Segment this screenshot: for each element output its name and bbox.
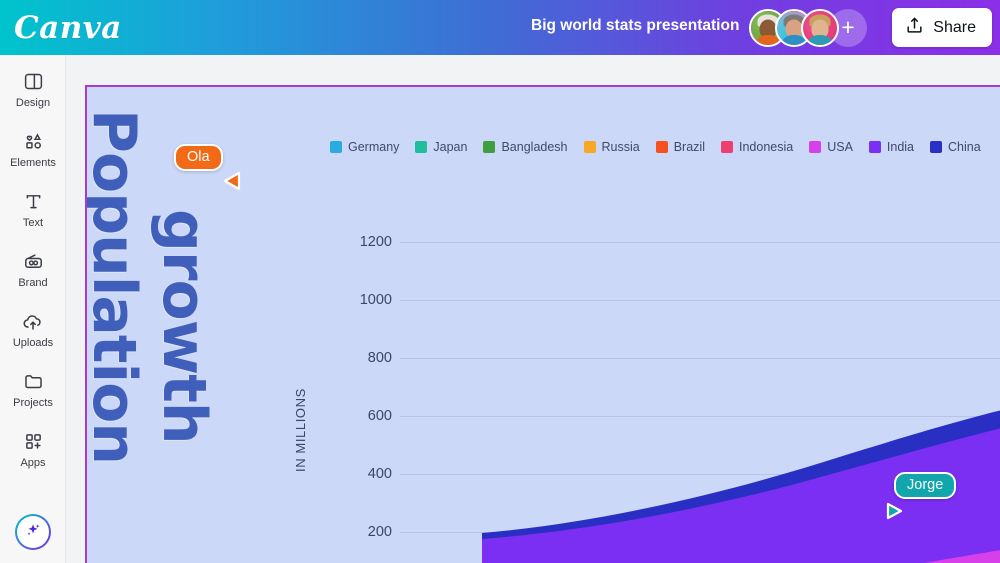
y-axis-title: IN MILLIONS <box>293 388 308 472</box>
y-tick-label: 1200 <box>322 234 392 250</box>
legend-label: Germany <box>348 140 399 154</box>
canva-logo[interactable]: Canva <box>14 10 122 46</box>
sidebar-item-label: Brand <box>18 278 47 289</box>
magic-ai-button[interactable] <box>15 514 51 550</box>
text-t-icon <box>23 190 44 214</box>
cursor-pointer-jorge <box>884 499 908 528</box>
chart-legend: Germany Japan Bangladesh Russia Brazil <box>330 140 992 154</box>
slide-title-line-1[interactable]: Population <box>85 109 149 464</box>
cursor-pointer-ola <box>218 169 242 198</box>
legend-label: Bangladesh <box>501 140 567 154</box>
legend-label: Brazil <box>674 140 705 154</box>
top-bar: Canva Big world stats presentation <box>0 0 1000 55</box>
sidebar-item-label: Text <box>23 218 43 229</box>
cloud-upload-icon <box>22 310 44 334</box>
shapes-icon <box>23 130 44 154</box>
sidebar-item-elements[interactable]: Elements <box>0 119 66 179</box>
legend-item[interactable]: India <box>869 140 914 154</box>
sidebar-item-label: Uploads <box>13 338 53 349</box>
legend-swatch-germany <box>330 141 342 153</box>
apps-grid-plus-icon <box>23 430 44 454</box>
document-title[interactable]: Big world stats presentation <box>531 17 739 35</box>
sidebar-item-brand[interactable]: Brand <box>0 239 66 299</box>
legend-item[interactable]: Japan <box>415 140 467 154</box>
canva-editor-window: Canva Big world stats presentation <box>0 0 1000 563</box>
sidebar-item-design[interactable]: Design <box>0 59 66 119</box>
cursor-label-jorge: Jorge <box>894 472 956 499</box>
legend-label: Indonesia <box>739 140 793 154</box>
legend-label: Japan <box>433 140 467 154</box>
slide-background: 1200 1000 800 600 400 200 IN MILLIONS Ge… <box>87 87 1000 563</box>
legend-swatch-indonesia <box>721 141 733 153</box>
slide-canvas[interactable]: 1200 1000 800 600 400 200 IN MILLIONS Ge… <box>85 85 1000 563</box>
legend-swatch-russia <box>584 141 596 153</box>
brand-icon <box>23 250 44 274</box>
legend-swatch-india <box>869 141 881 153</box>
legend-label: China <box>948 140 981 154</box>
y-axis-ticks: 1200 1000 800 600 400 200 <box>322 87 392 563</box>
sidebar-item-apps[interactable]: Apps <box>0 419 66 479</box>
slide-title-line-2[interactable]: growth <box>149 209 219 444</box>
legend-item[interactable]: USA <box>809 140 853 154</box>
collaborator-avatars: + <box>749 8 867 47</box>
legend-label: India <box>887 140 914 154</box>
folder-icon <box>23 370 44 394</box>
legend-item[interactable]: Germany <box>330 140 399 154</box>
sidebar-item-label: Apps <box>20 458 45 469</box>
y-tick-label: 800 <box>322 350 392 366</box>
left-sidebar: Design Elements Text <box>0 55 66 563</box>
legend-swatch-bangladesh <box>483 141 495 153</box>
y-tick-label: 1000 <box>322 292 392 308</box>
sidebar-item-projects[interactable]: Projects <box>0 359 66 419</box>
legend-label: USA <box>827 140 853 154</box>
legend-item[interactable]: Indonesia <box>721 140 793 154</box>
design-panel-icon <box>23 70 44 94</box>
y-tick-label: 600 <box>322 408 392 424</box>
sidebar-item-label: Design <box>16 98 50 109</box>
legend-swatch-brazil <box>656 141 668 153</box>
sidebar-item-label: Elements <box>10 158 56 169</box>
share-button[interactable]: Share <box>892 8 992 47</box>
legend-swatch-japan <box>415 141 427 153</box>
y-tick-label: 400 <box>322 466 392 482</box>
legend-swatch-usa <box>809 141 821 153</box>
sidebar-item-label: Projects <box>13 398 53 409</box>
legend-item[interactable]: China <box>930 140 981 154</box>
legend-label: Russia <box>602 140 640 154</box>
sidebar-item-uploads[interactable]: Uploads <box>0 299 66 359</box>
legend-swatch-china <box>930 141 942 153</box>
legend-item[interactable]: Brazil <box>656 140 705 154</box>
legend-item[interactable]: Bangladesh <box>483 140 567 154</box>
legend-item[interactable]: Russia <box>584 140 640 154</box>
cursor-label-ola: Ola <box>174 144 223 171</box>
y-tick-label: 200 <box>322 524 392 540</box>
sidebar-item-text[interactable]: Text <box>0 179 66 239</box>
upload-icon <box>905 16 924 40</box>
avatar[interactable] <box>801 9 839 47</box>
share-button-label: Share <box>933 19 976 37</box>
magic-sparkles-icon <box>23 520 43 545</box>
